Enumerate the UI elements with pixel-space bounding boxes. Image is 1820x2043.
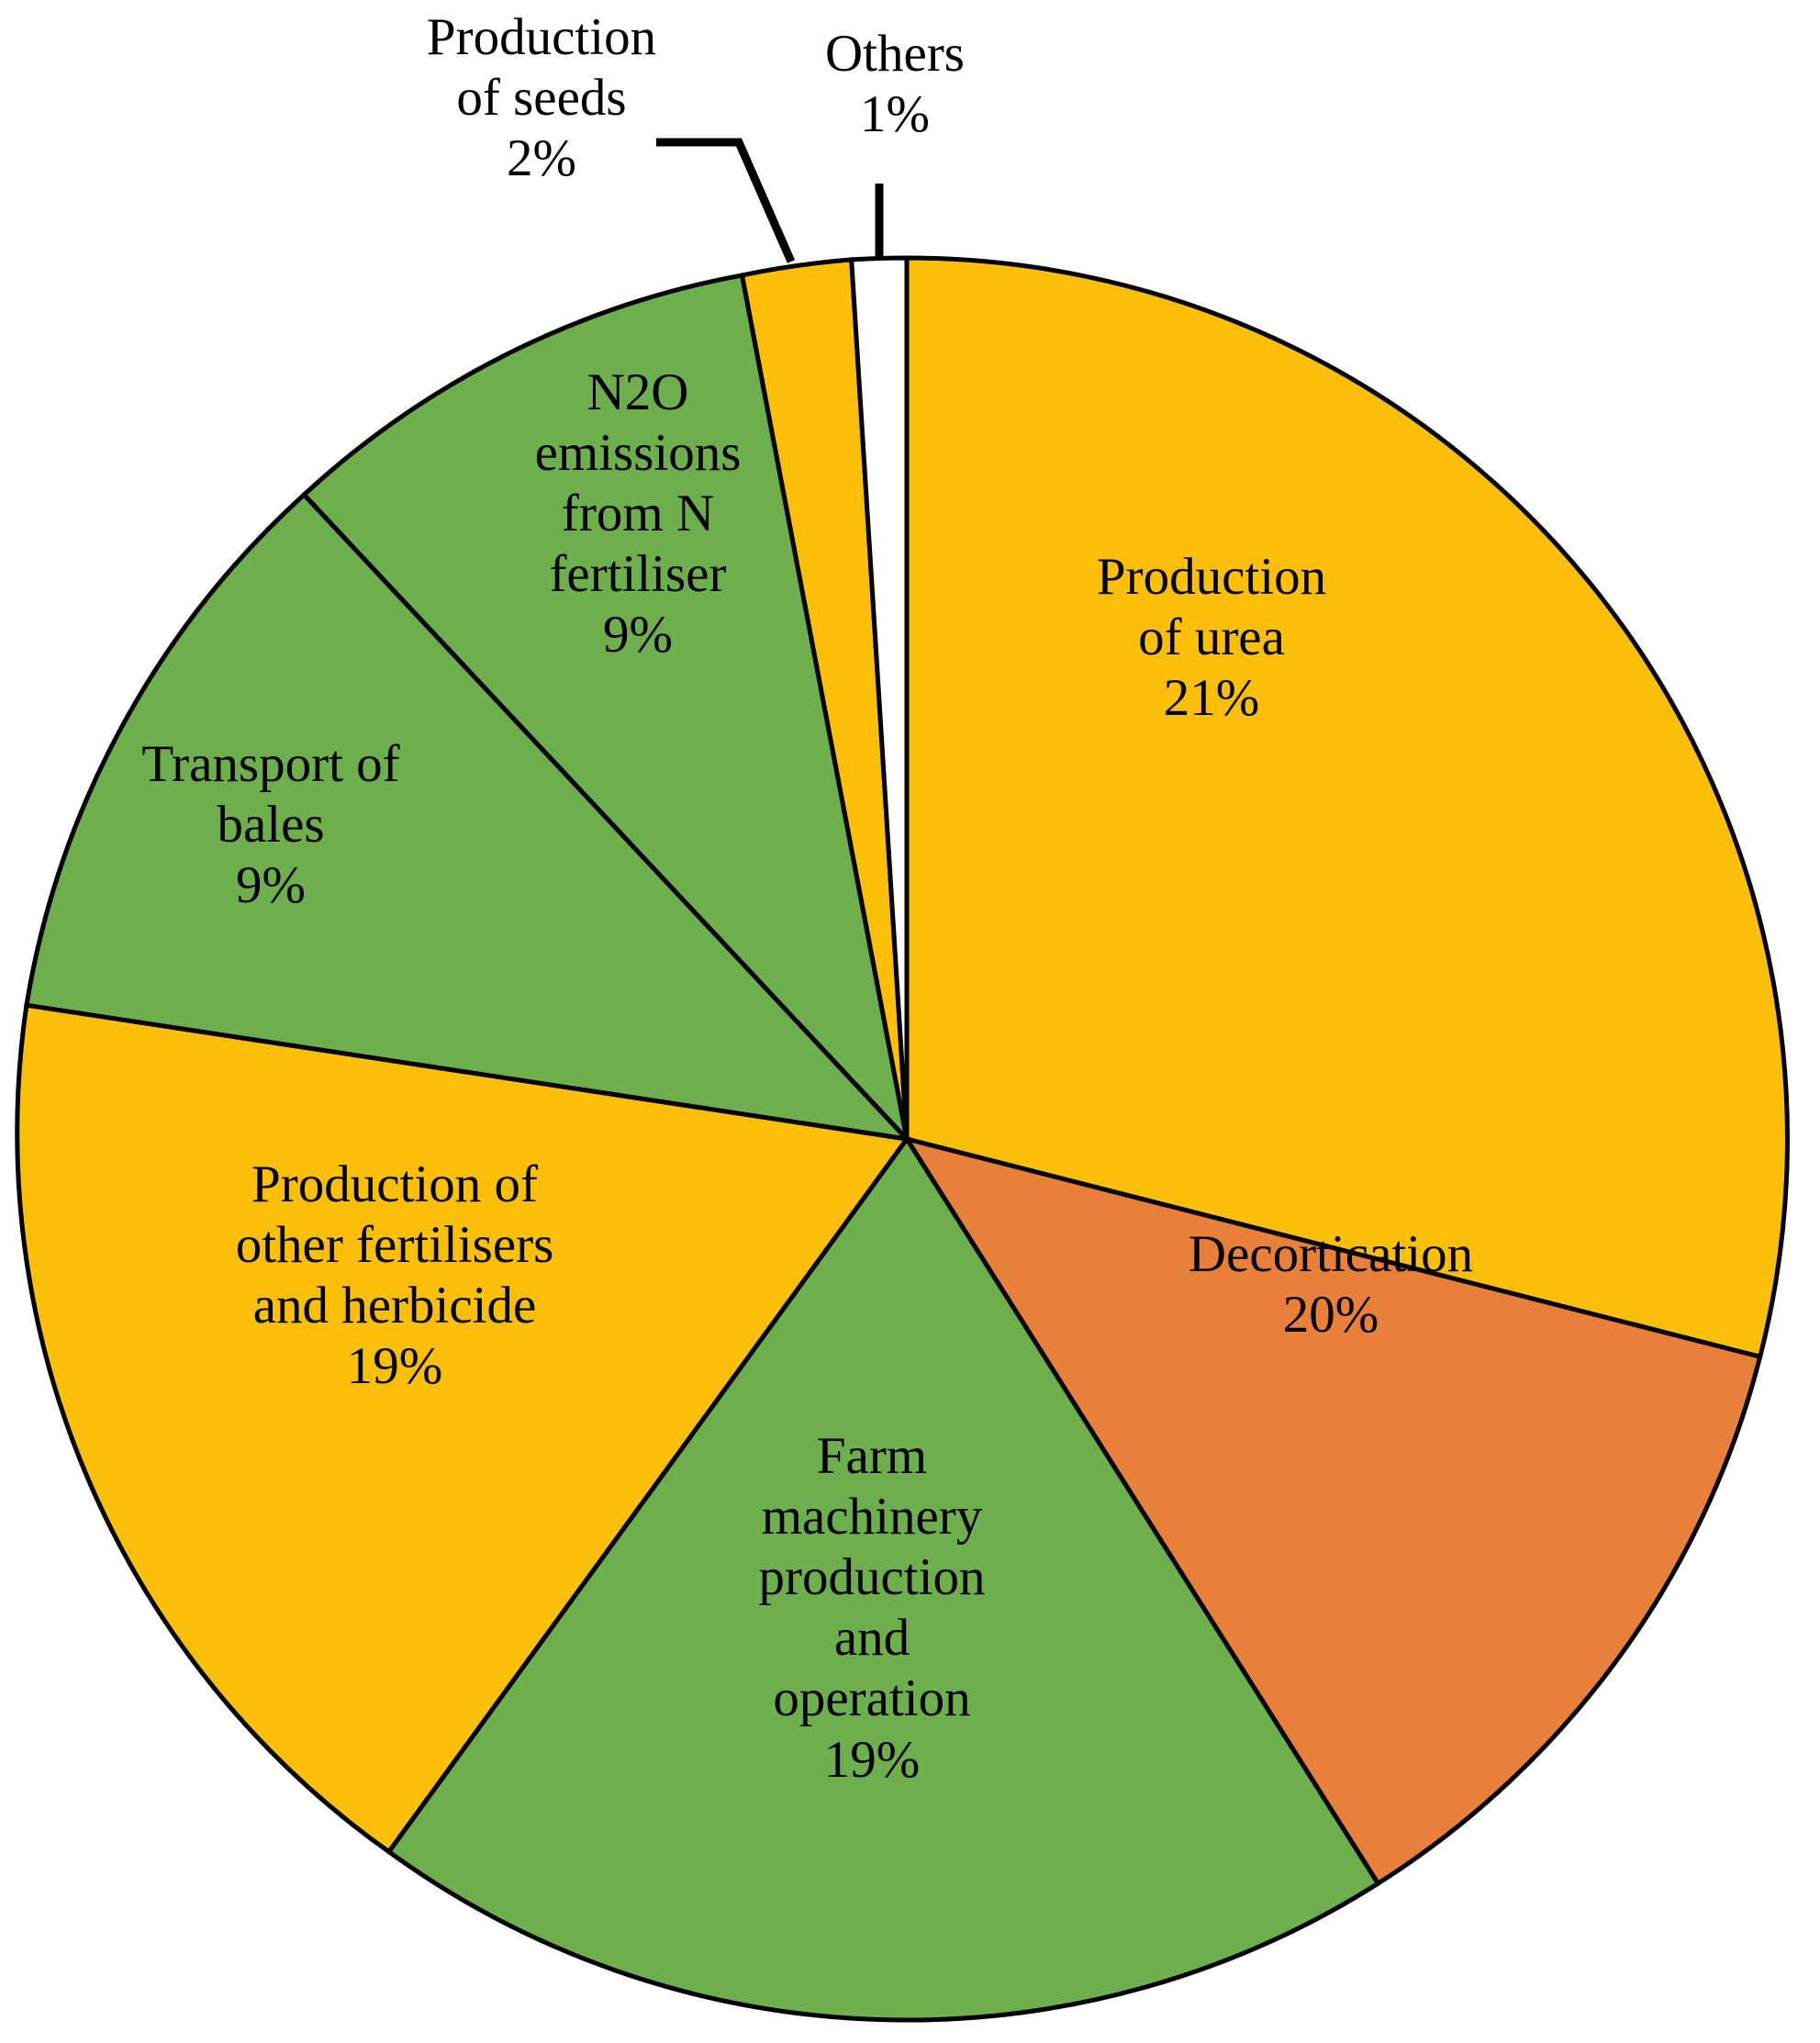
- pie-label-others: Others 1%: [771, 24, 1019, 145]
- pie-label-production-of-seeds: Production of seeds 2%: [349, 7, 734, 189]
- pie-chart-figure: Production of urea 21% Decortication 20%…: [0, 0, 1820, 2043]
- pie-chart-canvas: [0, 0, 1820, 2043]
